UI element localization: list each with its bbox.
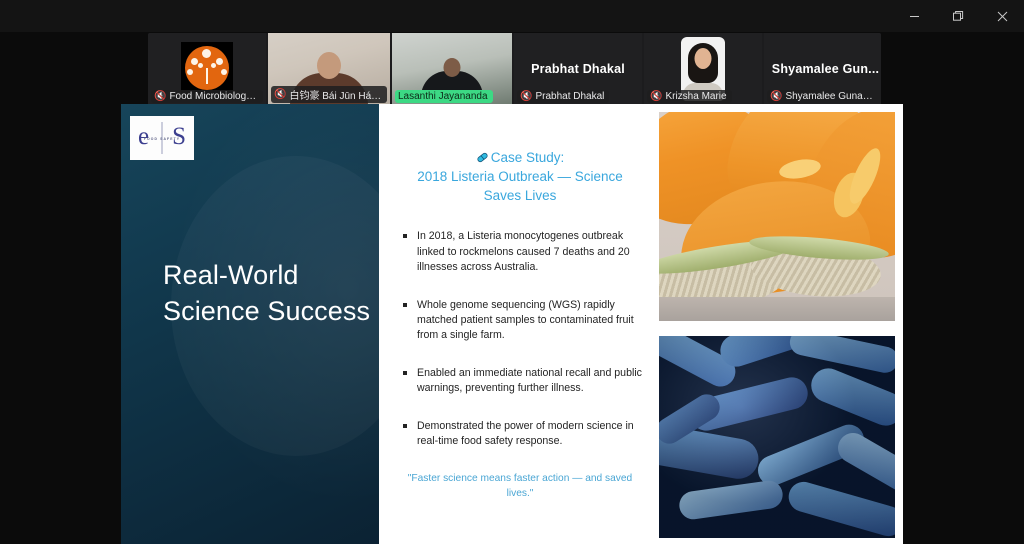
participant-namebar: 🔇 Food Microbiology A... — [151, 90, 263, 103]
window-titlebar — [0, 0, 1024, 32]
participant-name: Krizsha Marie — [665, 91, 726, 102]
participant-namebar: 🔇 Shyamalee Gunawickr... — [767, 90, 881, 103]
headline-line-1: Case Study: — [491, 150, 565, 165]
slide-quote: "Faster science means faster action — an… — [397, 472, 643, 502]
bullet-item: Enabled an immediate national recall and… — [397, 366, 643, 396]
slide-image-column — [651, 104, 903, 544]
headline-line-2: 2018 Listeria Outbreak — Science Saves L… — [417, 169, 623, 203]
brand-logo: e S FOOD SAFETY — [130, 116, 194, 160]
participant-namebar: 🔇 白钧豪 Bái Jūn Háo (... — [271, 86, 387, 103]
rockmelon-photo — [659, 112, 895, 321]
slide-body: Case Study: 2018 Listeria Outbreak — Sci… — [379, 104, 903, 544]
org-logo-avatar — [181, 42, 233, 94]
slide-bullet-list: In 2018, a Listeria monocytogenes outbre… — [397, 229, 643, 448]
participant-name: Food Microbiology A... — [169, 91, 258, 102]
zoom-meeting-window: 🔇 Food Microbiology A... 🔇 白钧豪 Bái Jūn H… — [0, 0, 1024, 544]
restore-icon[interactable] — [936, 0, 980, 32]
participant-name: Lasanthi Jayananda — [398, 91, 488, 102]
participant-namebar: 🔇 Prabhat Dhakal — [517, 90, 609, 103]
participant-tile-prabhat-dhakal[interactable]: Prabhat Dhakal 🔇 Prabhat Dhakal — [514, 33, 642, 105]
bullet-item: Whole genome sequencing (WGS) rapidly ma… — [397, 298, 643, 343]
slide-text-column: Case Study: 2018 Listeria Outbreak — Sci… — [379, 104, 651, 544]
participant-tile-shyamalee-gunawickrama[interactable]: Shyamalee Gun... 🔇 Shyamalee Gunawickr..… — [764, 33, 881, 105]
mute-icon: 🔇 — [154, 92, 166, 102]
participant-filmstrip[interactable]: 🔇 Food Microbiology A... 🔇 白钧豪 Bái Jūn H… — [148, 33, 881, 105]
bacteria-photo — [659, 336, 895, 538]
slide-side-panel: e S FOOD SAFETY Real-World Science Succe… — [121, 104, 379, 544]
slide-headline: Case Study: 2018 Listeria Outbreak — Sci… — [397, 148, 643, 205]
bullet-item: Demonstrated the power of modern science… — [397, 419, 643, 449]
close-icon[interactable] — [980, 0, 1024, 32]
participant-tile-food-microbiology[interactable]: 🔇 Food Microbiology A... — [148, 33, 266, 105]
participant-name: Prabhat Dhakal — [535, 91, 604, 102]
pill-icon — [476, 150, 489, 163]
participant-tile-lasanthi-jayananda[interactable]: Lasanthi Jayananda — [392, 33, 512, 105]
participant-name: 白钧豪 Bái Jūn Háo (... — [289, 87, 382, 102]
participant-namebar: Lasanthi Jayananda — [395, 90, 493, 103]
slide-side-title: Real-World Science Success — [163, 258, 373, 329]
mute-icon: 🔇 — [650, 92, 662, 102]
participant-name: Shyamalee Gunawickr... — [785, 91, 879, 102]
participant-namebar: 🔇 Krizsha Marie — [647, 90, 732, 103]
mute-icon: 🔇 — [520, 92, 532, 102]
bullet-item: In 2018, a Listeria monocytogenes outbre… — [397, 229, 643, 274]
mute-icon: 🔇 — [274, 90, 286, 100]
logo-subtitle: FOOD SAFETY — [133, 137, 191, 141]
participant-tile-krizsha-marie[interactable]: 🔇 Krizsha Marie — [644, 33, 762, 105]
participant-tile-bai-jun-hao[interactable]: 🔇 白钧豪 Bái Jūn Háo (... — [268, 33, 390, 105]
shared-slide: e S FOOD SAFETY Real-World Science Succe… — [121, 104, 903, 544]
minimize-icon[interactable] — [892, 0, 936, 32]
mute-icon: 🔇 — [770, 92, 782, 102]
